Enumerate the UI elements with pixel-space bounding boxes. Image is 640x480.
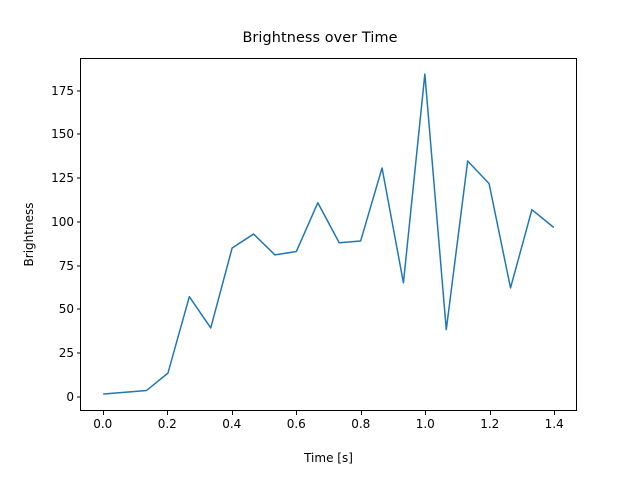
y-tick-label: 0 <box>66 390 74 404</box>
x-tick-label: 0.2 <box>158 417 177 431</box>
y-tick-mark <box>77 352 81 353</box>
x-tick-mark <box>490 411 491 415</box>
x-tick-mark <box>232 411 233 415</box>
y-tick-label: 175 <box>51 84 74 98</box>
x-tick-label: 1.2 <box>480 417 499 431</box>
y-tick-mark <box>77 90 81 91</box>
y-tick-mark <box>77 178 81 179</box>
y-tick-mark <box>77 396 81 397</box>
y-tick-label: 75 <box>59 259 74 273</box>
y-axis-label: Brightness <box>22 58 42 411</box>
matplotlib-figure: Brightness over Time Brightness Time [s]… <box>0 0 640 480</box>
plot-area <box>80 58 577 411</box>
y-tick-mark <box>77 221 81 222</box>
chart-title: Brightness over Time <box>0 30 640 46</box>
y-tick-mark <box>77 309 81 310</box>
x-tick-mark <box>425 411 426 415</box>
line-series-brightness <box>104 74 554 394</box>
y-tick-mark <box>77 134 81 135</box>
x-tick-mark <box>167 411 168 415</box>
line-series-svg <box>81 59 576 410</box>
x-tick-mark <box>361 411 362 415</box>
y-tick-label: 150 <box>51 127 74 141</box>
y-tick-label: 100 <box>51 215 74 229</box>
x-tick-label: 1.0 <box>416 417 435 431</box>
y-tick-label: 125 <box>51 171 74 185</box>
x-tick-label: 0.4 <box>222 417 241 431</box>
x-axis-label: Time [s] <box>80 451 577 465</box>
y-tick-label: 50 <box>59 302 74 316</box>
x-tick-mark <box>554 411 555 415</box>
x-tick-mark <box>103 411 104 415</box>
y-tick-mark <box>77 265 81 266</box>
y-tick-label: 25 <box>59 346 74 360</box>
x-tick-label: 0.0 <box>93 417 112 431</box>
x-tick-mark <box>296 411 297 415</box>
x-tick-label: 1.4 <box>545 417 564 431</box>
x-tick-label: 0.8 <box>351 417 370 431</box>
x-tick-label: 0.6 <box>287 417 306 431</box>
